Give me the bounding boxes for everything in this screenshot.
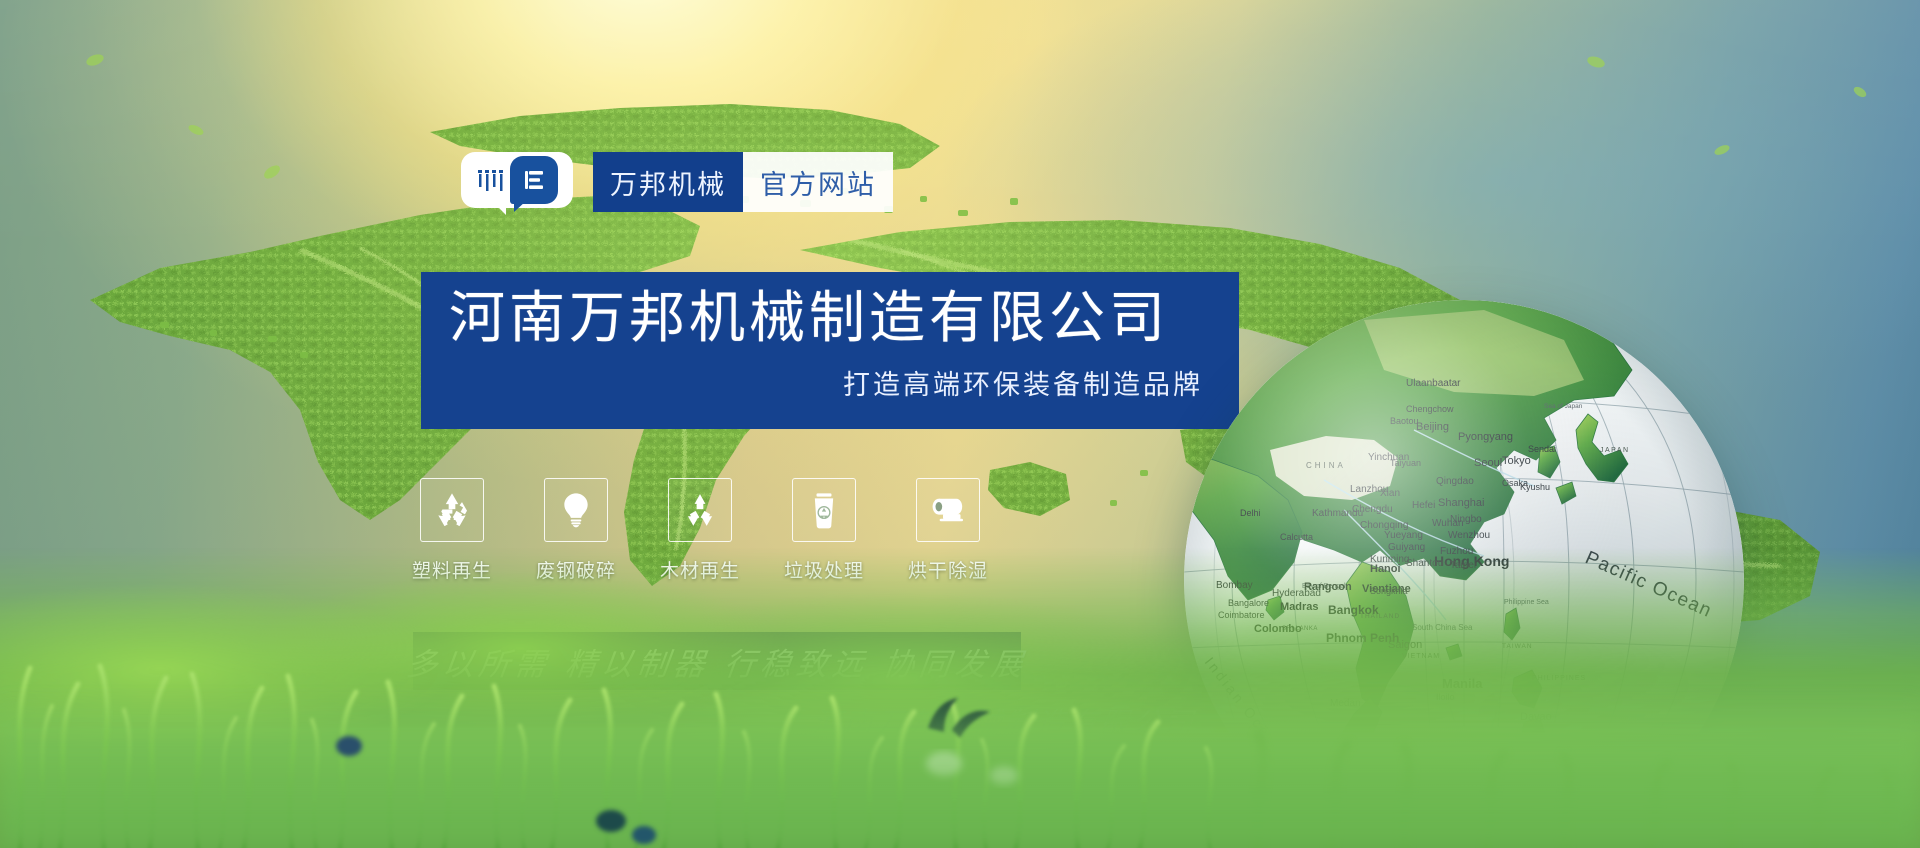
- hero-banner: 万邦机械 官方网站 河南万邦机械制造有限公司 打造高端环保装备制造品牌: [0, 0, 1920, 848]
- svg-text:JAPAN: JAPAN: [1600, 447, 1630, 454]
- official-site-block[interactable]: 官方网站: [743, 152, 893, 212]
- svg-text:Seoul: Seoul: [1474, 457, 1502, 469]
- svg-text:Beijing: Beijing: [1416, 421, 1449, 433]
- logo-b-bubble-tail: [514, 201, 526, 212]
- recycle-icon: [420, 478, 484, 542]
- svg-text:Wenzhou: Wenzhou: [1448, 530, 1490, 541]
- svg-text:Taiyuan: Taiyuan: [1390, 458, 1421, 468]
- logo-bubble-tail: [495, 204, 506, 215]
- svg-text:Shanghai: Shanghai: [1438, 497, 1485, 509]
- svg-text:Xian: Xian: [1380, 488, 1400, 499]
- logo-w-icon: [476, 165, 506, 195]
- svg-text:Sendai: Sendai: [1528, 444, 1556, 454]
- svg-text:Calcutta: Calcutta: [1280, 532, 1313, 542]
- wanbang-wb-logo[interactable]: [461, 152, 573, 208]
- svg-text:Pyongyang: Pyongyang: [1458, 431, 1513, 443]
- brand-name-block[interactable]: 万邦机械: [593, 152, 743, 212]
- lightbulb-icon: [544, 478, 608, 542]
- dryer-drum-icon: [916, 478, 980, 542]
- berry-decoration: [596, 810, 626, 832]
- berry-decoration: [632, 826, 656, 844]
- grass-blur-overlay: [0, 698, 1920, 848]
- title-banner: 河南万邦机械制造有限公司 打造高端环保装备制造品牌: [421, 272, 1239, 429]
- svg-text:Kyushu: Kyushu: [1520, 482, 1550, 492]
- svg-text:Delhi: Delhi: [1240, 508, 1261, 518]
- svg-text:Qingdao: Qingdao: [1436, 476, 1474, 487]
- berry-decoration: [336, 736, 362, 756]
- svg-text:Tokyo: Tokyo: [1502, 455, 1531, 467]
- svg-text:Chengchow: Chengchow: [1406, 404, 1454, 414]
- brand-bar[interactable]: 万邦机械 官方网站: [461, 152, 893, 212]
- svg-text:Wuhan: Wuhan: [1432, 518, 1464, 529]
- recycle-icon: [668, 478, 732, 542]
- trash-bin-icon: [792, 478, 856, 542]
- logo-b-icon: [522, 168, 546, 192]
- svg-text:Kathmandu: Kathmandu: [1312, 508, 1363, 519]
- svg-text:Sea of Japan: Sea of Japan: [1544, 403, 1583, 410]
- svg-text:Baotou: Baotou: [1390, 416, 1419, 426]
- svg-text:Ulaanbaatar: Ulaanbaatar: [1406, 378, 1461, 389]
- company-name: 河南万邦机械制造有限公司: [449, 288, 1209, 351]
- svg-text:CHINA: CHINA: [1306, 461, 1346, 470]
- svg-text:Hefei: Hefei: [1412, 500, 1435, 511]
- company-tagline: 打造高端环保装备制造品牌: [449, 363, 1209, 402]
- logo-b-bubble: [510, 156, 558, 204]
- svg-text:Yueyang: Yueyang: [1384, 530, 1423, 541]
